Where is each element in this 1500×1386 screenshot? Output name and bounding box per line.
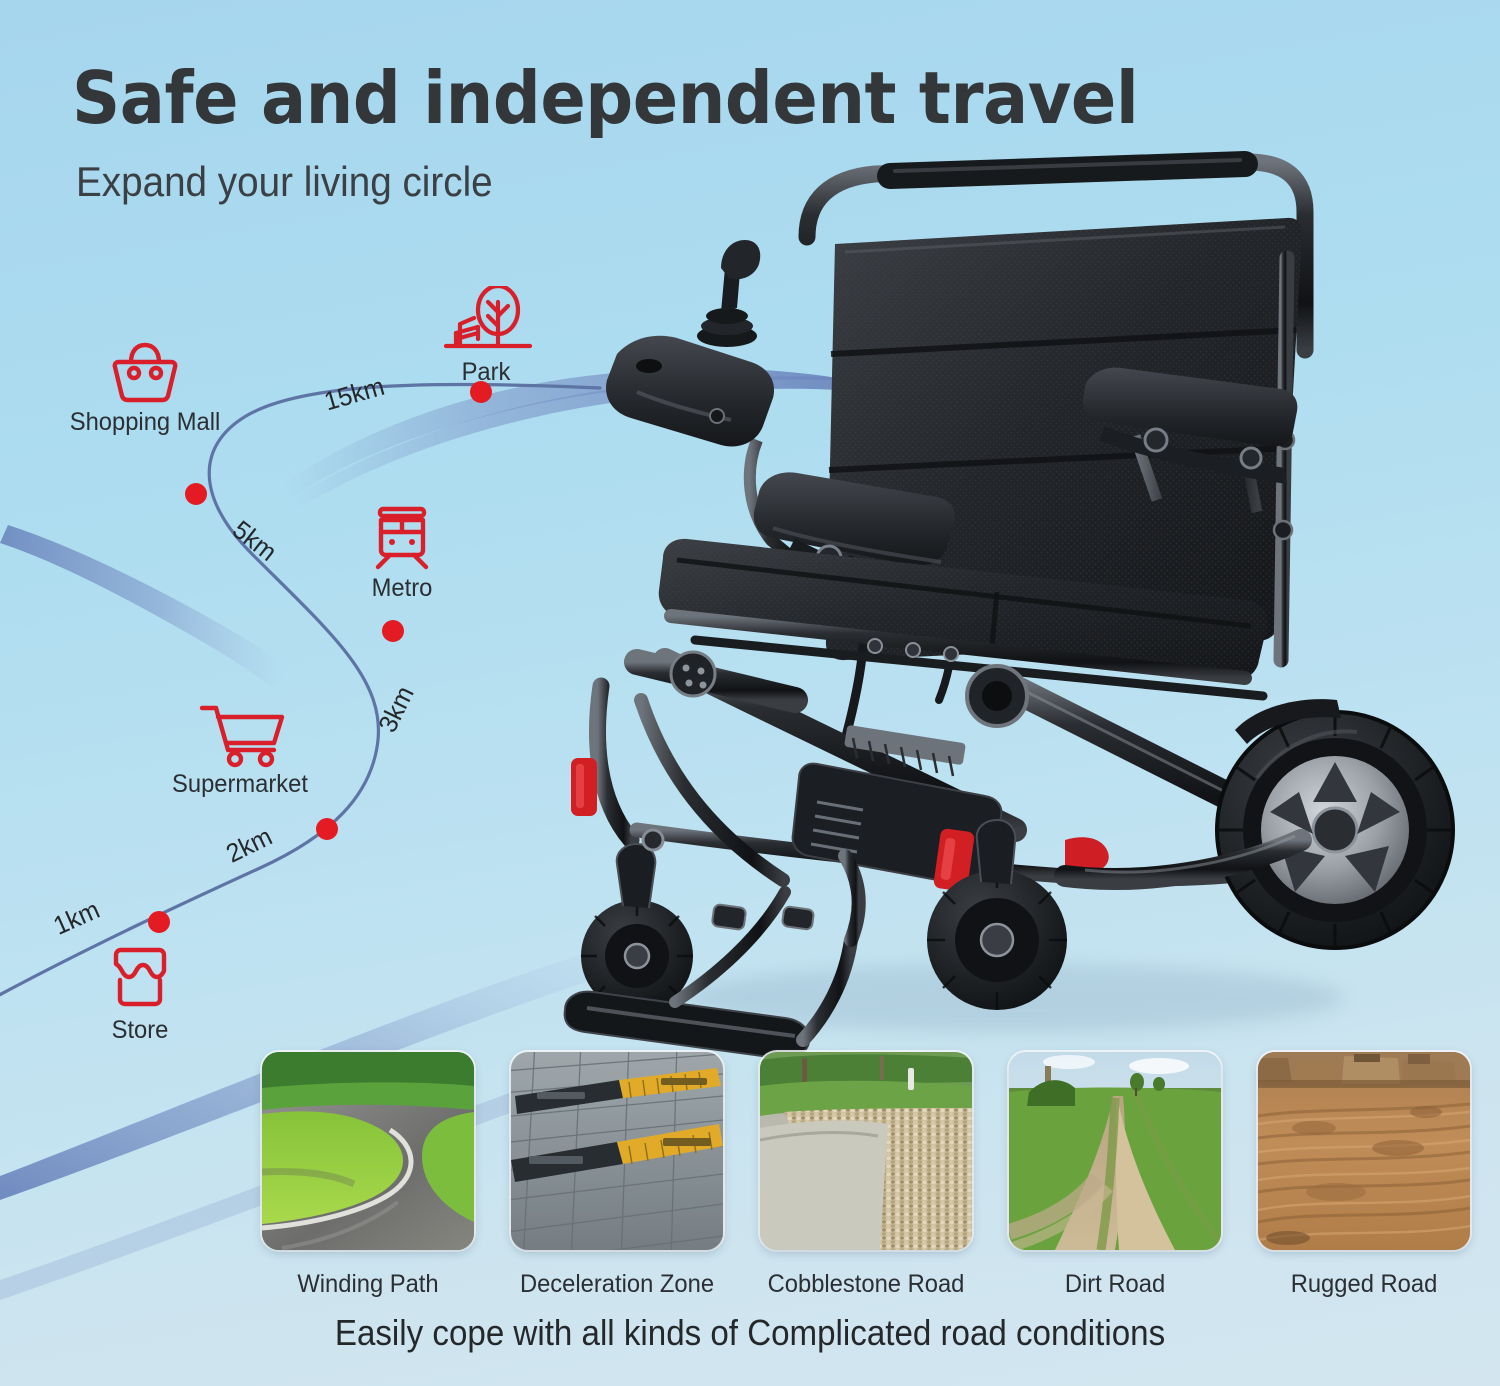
controller-port xyxy=(636,359,662,373)
road-condition-label: Winding Path xyxy=(267,1270,468,1299)
seat-bolt-3 xyxy=(944,647,958,661)
product-image-electric-wheelchair xyxy=(545,140,1475,1070)
thumbnail-dirt-road[interactable] xyxy=(1009,1052,1221,1250)
route-map: Park Shopping Mall xyxy=(0,240,640,1120)
park-tree-icon xyxy=(412,286,560,356)
page-subtitle: Expand your living circle xyxy=(76,158,493,206)
shopping-bag-icon xyxy=(48,340,242,406)
left-fold-hub xyxy=(671,652,715,696)
route-dot-shopping-mall xyxy=(185,483,207,505)
road-condition-label: Cobblestone Road xyxy=(765,1270,966,1299)
thumbnail-rugged-road[interactable] xyxy=(1258,1052,1470,1250)
poi-shopping-mall: Shopping Mall xyxy=(48,340,242,437)
joystick-knob xyxy=(721,240,760,279)
frame-bracket-2 xyxy=(782,906,814,930)
road-condition-label: Rugged Road xyxy=(1263,1270,1464,1299)
road-condition-card[interactable]: Winding Path xyxy=(262,1052,474,1302)
road-condition-card[interactable]: Deceleration Zone xyxy=(511,1052,723,1302)
infographic-poster: Safe and independent travel Expand your … xyxy=(0,0,1500,1386)
seat-bolt-1 xyxy=(868,639,882,653)
left-hub-bolt-1 xyxy=(683,665,690,672)
road-condition-card[interactable]: Dirt Road xyxy=(1009,1052,1221,1302)
caster-fork-center xyxy=(977,820,1016,884)
road-condition-label: Dirt Road xyxy=(1014,1270,1215,1299)
caster-fork-left xyxy=(617,844,656,908)
road-conditions-gallery: Winding Path xyxy=(262,1052,1470,1302)
controller-button xyxy=(710,409,724,423)
poi-label: Store xyxy=(85,1016,195,1045)
front-caster-left xyxy=(581,844,693,1012)
left-hub-bolt-4 xyxy=(700,682,707,689)
store-icon xyxy=(82,942,198,1014)
poi-store: Store xyxy=(82,942,198,1045)
frame-bracket-1 xyxy=(712,904,747,930)
road-condition-label: Deceleration Zone xyxy=(516,1270,717,1299)
left-hub-bolt-3 xyxy=(686,680,693,687)
back-frame-tube xyxy=(1281,258,1287,660)
poi-supermarket: Supermarket xyxy=(136,698,344,799)
gallery-caption: Easily cope with all kinds of Complicate… xyxy=(60,1312,1440,1354)
poi-label: Metro xyxy=(341,574,463,603)
thumbnail-deceleration-zone[interactable] xyxy=(511,1052,723,1250)
poi-park: Park xyxy=(412,286,560,387)
seat-bolt-2 xyxy=(906,643,920,657)
poi-label: Supermarket xyxy=(141,770,339,799)
poi-label: Park xyxy=(416,358,557,387)
battery-box xyxy=(793,764,1002,887)
train-icon xyxy=(338,502,466,572)
road-condition-card[interactable]: Cobblestone Road xyxy=(760,1052,972,1302)
armrest-far-pivot-2 xyxy=(1241,448,1261,468)
shopping-cart-icon xyxy=(136,698,344,768)
page-title: Safe and independent travel xyxy=(72,56,1138,140)
left-fold-arm xyxy=(637,662,795,700)
route-dot-supermarket xyxy=(316,818,338,840)
back-frame-bolt-2 xyxy=(1274,521,1292,539)
rear-wheel xyxy=(1217,712,1453,948)
road-condition-card[interactable]: Rugged Road xyxy=(1258,1052,1470,1302)
thumbnail-cobblestone-road[interactable] xyxy=(760,1052,972,1250)
thumbnail-winding-path[interactable] xyxy=(262,1052,474,1250)
route-dot-store xyxy=(148,911,170,933)
fold-pivot-bore xyxy=(982,681,1012,711)
controller-body xyxy=(606,336,774,447)
poi-label: Shopping Mall xyxy=(53,408,237,437)
frame-bolt-lower xyxy=(643,830,663,850)
reflector-left-highlight xyxy=(576,764,584,808)
footrest-support-rear xyxy=(845,856,859,940)
poi-metro: Metro xyxy=(338,502,466,603)
lower-frame-tube-left xyxy=(597,686,631,840)
route-dot-metro xyxy=(382,620,404,642)
armrest-far-pivot xyxy=(1145,429,1167,451)
left-hub-bolt-2 xyxy=(698,668,705,675)
